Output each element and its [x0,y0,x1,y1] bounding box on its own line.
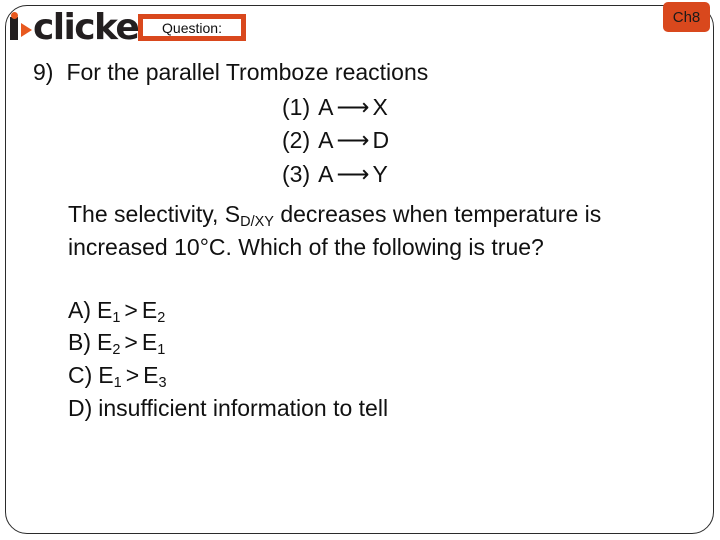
choice-left-var: E [97,329,112,355]
question-stem-text: For the parallel Tromboze reactions [66,56,428,89]
reaction-product: X [372,94,387,120]
choice-right-subscript: 2 [157,310,165,326]
reaction-product: Y [372,161,387,187]
choice-text: insufficient information to tell [98,395,388,421]
selectivity-text-pre: The selectivity, S [68,201,240,227]
choice-right-var: E [142,297,157,323]
choice-right-var: E [143,362,158,388]
question-label-text: Question: [162,21,222,35]
logo-letter-i [10,9,19,46]
answer-choice-a[interactable]: A)E1>E2 [68,294,720,327]
chapter-badge: Ch8 [663,2,710,32]
presentation-slide: clicker Question: Ch8 9) For the paralle… [0,0,720,540]
choice-letter: B) [68,329,91,355]
chapter-badge-text: Ch8 [673,10,701,25]
answer-choice-d[interactable]: D)insufficient information to tell [68,392,720,425]
reaction-index: (1) [282,94,310,120]
choice-letter: D) [68,395,92,421]
choice-left-var: E [98,362,113,388]
choice-letter: C) [68,362,92,388]
reaction-row: (1)A⟶X [282,91,720,124]
slide-content: 9) For the parallel Tromboze reactions (… [0,56,720,424]
logo-i-stem [10,17,18,40]
reaction-reactant: A [318,94,333,120]
logo-wordmark: clicker [33,10,154,46]
choice-left-subscript: 2 [112,342,120,358]
iclicker-logo: clicker [10,10,154,44]
question-body-line-1: The selectivity, SD/XY decreases when te… [68,198,680,231]
reaction-index: (3) [282,161,310,187]
logo-i-dot-icon [11,12,18,19]
answer-choice-c[interactable]: C)E1>E3 [68,359,720,392]
reaction-arrow-icon: ⟶ [333,127,372,153]
selectivity-subscript: D/XY [240,214,274,230]
choice-operator: > [120,329,141,355]
question-body: The selectivity, SD/XY decreases when te… [0,198,720,264]
reaction-arrow-icon: ⟶ [333,161,372,187]
choice-operator: > [122,362,143,388]
reaction-reactant: A [318,161,333,187]
answer-choice-b[interactable]: B)E2>E1 [68,326,720,359]
choice-right-subscript: 1 [157,342,165,358]
reaction-list: (1)A⟶X (2)A⟶D (3)A⟶Y [0,91,720,191]
answer-choices: A)E1>E2 B)E2>E1 C)E1>E3 D)insufficient i… [0,294,720,425]
reaction-row: (2)A⟶D [282,124,720,157]
reaction-index: (2) [282,127,310,153]
choice-operator: > [120,297,141,323]
selectivity-text-post: decreases when temperature is [274,201,601,227]
choice-left-subscript: 1 [112,310,120,326]
question-label-box: Question: [138,14,246,41]
choice-right-var: E [142,329,157,355]
choice-left-var: E [97,297,112,323]
reaction-product: D [372,127,389,153]
play-triangle-icon [21,23,32,37]
reaction-arrow-icon: ⟶ [333,94,372,120]
choice-left-subscript: 1 [114,375,122,391]
question-stem: 9) For the parallel Tromboze reactions [0,56,720,89]
question-number: 9) [33,56,66,89]
reaction-row: (3)A⟶Y [282,158,720,191]
reaction-reactant: A [318,127,333,153]
choice-right-subscript: 3 [158,375,166,391]
question-body-line-2: increased 10°C. Which of the following i… [68,231,680,264]
choice-letter: A) [68,297,91,323]
